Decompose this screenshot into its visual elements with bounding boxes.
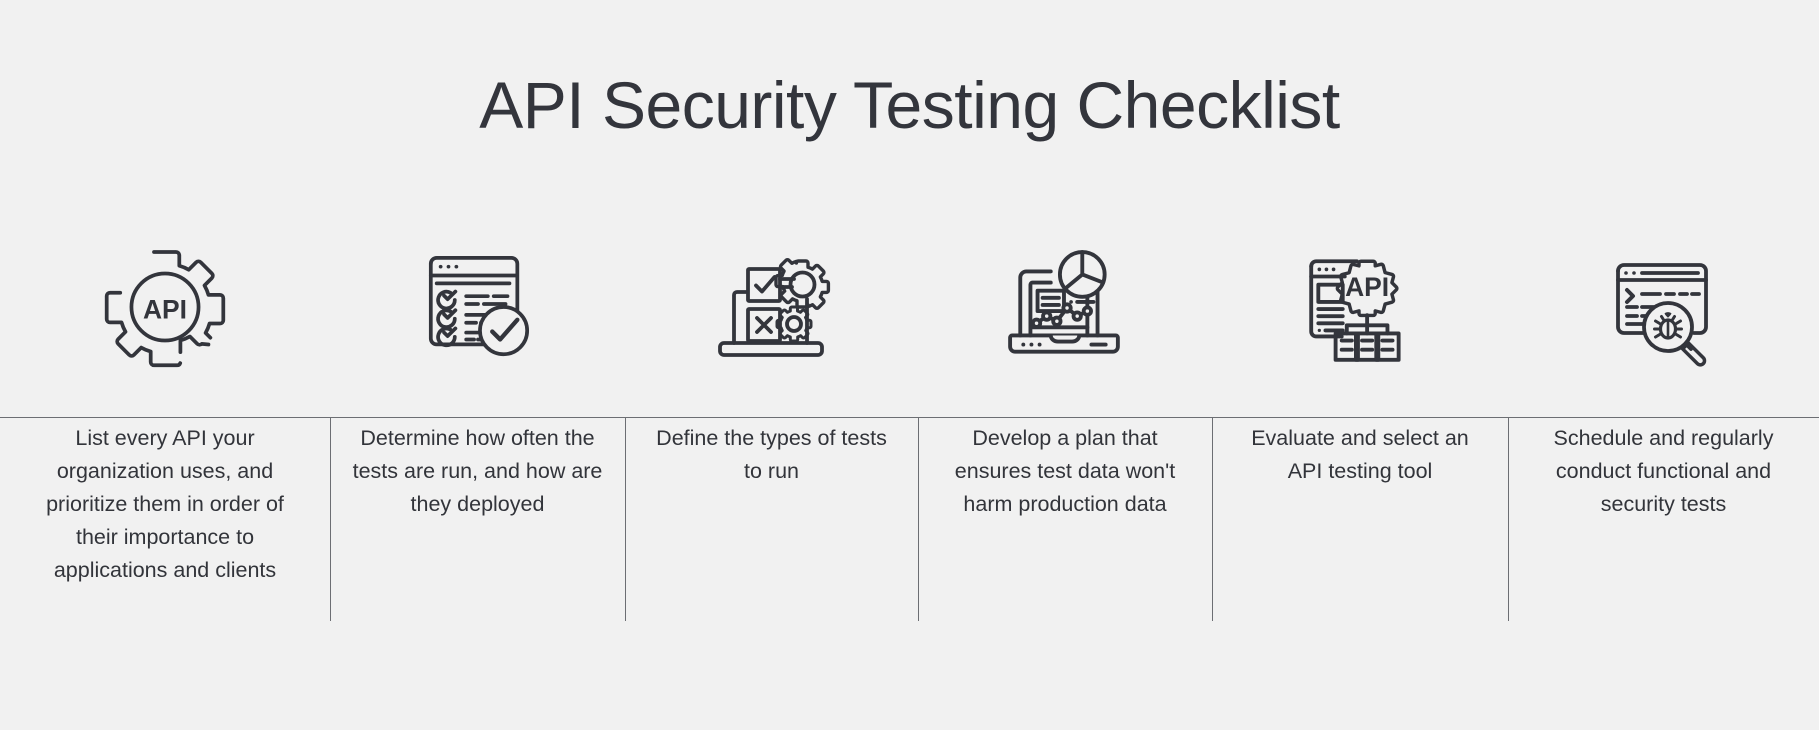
checklist-caption: Define the types of tests to run <box>625 422 918 488</box>
svg-text:API: API <box>1345 272 1389 302</box>
checklist-item-1: API List every API your organization use… <box>0 222 330 622</box>
laptop-test-results-gears-icon <box>625 222 918 392</box>
api-gear-icon: API <box>0 222 330 392</box>
checklist-item-4: Develop a plan that ensures test data wo… <box>918 222 1212 622</box>
checklist-caption: Determine how often the tests are run, a… <box>330 422 625 521</box>
checklist-item-5: API Evaluate and select an API testing t… <box>1212 222 1508 622</box>
svg-text:API: API <box>143 295 187 325</box>
checklist-caption: Develop a plan that ensures test data wo… <box>918 422 1212 521</box>
checklist-item-2: Determine how often the tests are run, a… <box>330 222 625 622</box>
page-title: API Security Testing Checklist <box>0 62 1819 148</box>
checklist-item-3: Define the types of tests to run <box>625 222 918 622</box>
infographic-root: API Security Testing Checklist API List … <box>0 0 1819 730</box>
checklist-item-6: Schedule and regularly conduct functiona… <box>1508 222 1819 622</box>
checklist-caption: Schedule and regularly conduct functiona… <box>1508 422 1819 521</box>
checklist-caption: List every API your organization uses, a… <box>0 422 330 587</box>
laptop-analytics-chart-icon <box>918 222 1212 392</box>
code-window-bug-magnifier-icon <box>1508 222 1819 392</box>
checklist-window-check-icon <box>330 222 625 392</box>
api-gear-server-nodes-icon: API <box>1212 222 1508 392</box>
checklist-columns: API List every API your organization use… <box>0 222 1819 622</box>
checklist-caption: Evaluate and select an API testing tool <box>1212 422 1508 488</box>
